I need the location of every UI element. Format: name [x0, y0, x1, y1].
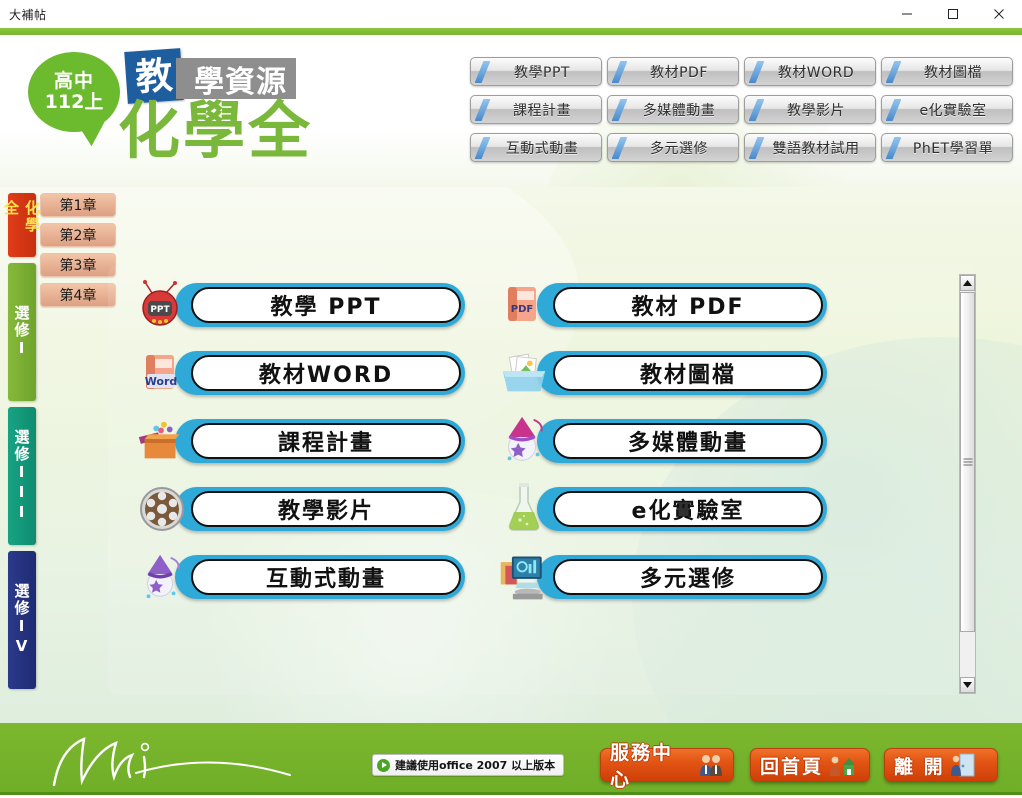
- nav-button-label: 教學影片: [775, 100, 845, 120]
- svg-text:PPT: PPT: [150, 305, 170, 315]
- slash-accent-icon: [612, 99, 627, 121]
- window-controls: [884, 0, 1022, 28]
- scrollbar-thumb[interactable]: [960, 292, 975, 632]
- home-label: 回首頁: [760, 752, 823, 779]
- menu-item-e-lab[interactable]: e化實驗室: [497, 483, 827, 535]
- menu-pill: e化實驗室: [537, 487, 827, 531]
- menu-pill: 教材 PDF: [537, 283, 827, 327]
- window-title: 大補帖: [0, 6, 47, 23]
- nav-button-label: 課程計畫: [501, 100, 571, 120]
- slash-accent-icon: [612, 61, 627, 83]
- svg-text:Word: Word: [145, 375, 178, 388]
- green-divider: [0, 28, 1022, 35]
- close-button[interactable]: [976, 0, 1022, 28]
- content-scrollbar[interactable]: [959, 274, 976, 694]
- main-body: 化學全 選修I 選修III 選修IV 第1章 第2章 第3章 第4章: [0, 187, 1022, 723]
- slash-accent-icon: [475, 137, 490, 159]
- office-version-note: 建議使用office 2007 以上版本: [372, 754, 564, 776]
- nav-button-course-plan[interactable]: 課程計畫: [470, 95, 602, 124]
- slash-accent-icon: [475, 61, 490, 83]
- menu-item-teaching-video[interactable]: 教學影片: [135, 483, 465, 535]
- door-icon: [950, 752, 976, 778]
- teaching-badge-char: 教: [134, 56, 173, 95]
- resource-menu-grid: PPT 教學 PPT PDF: [135, 279, 827, 603]
- chapter-button-1[interactable]: 第1章: [40, 193, 116, 217]
- nav-button-teaching-video[interactable]: 教學影片: [744, 95, 876, 124]
- monitor-chart-icon: [497, 550, 551, 604]
- menu-item-label: 教學影片: [278, 493, 374, 525]
- nav-button-label: e化實驗室: [907, 100, 986, 120]
- menu-item-interactive-animation[interactable]: 互動式動畫: [135, 551, 465, 603]
- scroll-up-arrow-icon[interactable]: [960, 275, 975, 291]
- word-book-icon: Word: [135, 346, 189, 400]
- nav-button-phet-worksheet[interactable]: PhET學習單: [881, 133, 1013, 162]
- gift-box-icon: [135, 414, 189, 468]
- resource-band: 學資源: [176, 58, 296, 99]
- menu-pill: 教材WORD: [175, 351, 465, 395]
- slash-accent-icon: [749, 99, 764, 121]
- slash-accent-icon: [612, 137, 627, 159]
- nav-button-material-images[interactable]: 教材圖檔: [881, 57, 1013, 86]
- menu-item-label: 多媒體動畫: [628, 425, 748, 457]
- chapter-button-4[interactable]: 第4章: [40, 283, 116, 307]
- slash-accent-icon: [749, 137, 764, 159]
- slash-accent-icon: [886, 99, 901, 121]
- service-center-label: 服務中心: [610, 738, 693, 792]
- nav-button-label: 多媒體動畫: [631, 100, 716, 120]
- slash-accent-icon: [886, 137, 901, 159]
- menu-pill: 多元選修: [537, 555, 827, 599]
- sidebar-item-elective-1[interactable]: 選修I: [8, 263, 36, 401]
- window-titlebar: 大補帖: [0, 0, 1022, 28]
- menu-item-label: 課程計畫: [278, 425, 374, 457]
- nav-button-label: 互動式動畫: [494, 138, 579, 158]
- nav-button-label: 教材PDF: [638, 62, 708, 82]
- svg-text:PDF: PDF: [511, 304, 533, 315]
- sidebar-item-chemistry-full[interactable]: 化學全: [8, 193, 36, 257]
- nav-button-teaching-ppt[interactable]: 教學PPT: [470, 57, 602, 86]
- nav-button-elective[interactable]: 多元選修: [607, 133, 739, 162]
- menu-item-label: 教材圖檔: [640, 357, 736, 389]
- slash-accent-icon: [886, 61, 901, 83]
- flask-icon: [497, 482, 551, 536]
- menu-item-label: 互動式動畫: [266, 561, 386, 593]
- footer-bottom-rule: [0, 792, 1022, 795]
- sidebar-tabs: 化學全 選修I 選修III 選修IV: [8, 193, 36, 695]
- menu-pill: 課程計畫: [175, 419, 465, 463]
- scroll-down-arrow-icon[interactable]: [960, 677, 975, 693]
- grade-bubble-line1: 高中: [54, 71, 94, 92]
- menu-item-label: e化實驗室: [632, 493, 745, 525]
- nav-button-material-pdf[interactable]: 教材PDF: [607, 57, 739, 86]
- nav-button-label: 教學PPT: [502, 62, 570, 82]
- office-version-note-label: 建議使用office 2007 以上版本: [395, 757, 555, 773]
- menu-item-course-plan[interactable]: 課程計畫: [135, 415, 465, 467]
- menu-item-material-word[interactable]: Word 教材WORD: [135, 347, 465, 399]
- brand-logo: 高中 112上 教 學資源 化學全: [22, 48, 322, 176]
- nav-button-label: 教材WORD: [766, 62, 854, 82]
- menu-item-elective[interactable]: 多元選修: [497, 551, 827, 603]
- nav-button-interactive-animation[interactable]: 互動式動畫: [470, 133, 602, 162]
- nani-brand-logo: [40, 729, 340, 791]
- menu-item-label: 教學 PPT: [271, 289, 382, 321]
- pdf-book-icon: PDF: [497, 278, 551, 332]
- header-nav-grid: 教學PPT 教材PDF 教材WORD 教材圖檔 課程計畫 多媒體動畫: [470, 57, 1013, 162]
- sidebar-item-elective-3[interactable]: 選修III: [8, 407, 36, 545]
- home-button[interactable]: 回首頁: [750, 748, 870, 782]
- menu-item-label: 多元選修: [640, 561, 736, 593]
- wizard-ball-icon: [497, 414, 551, 468]
- menu-pill: 教學影片: [175, 487, 465, 531]
- nav-button-label: PhET學習單: [901, 138, 993, 158]
- application-window: 大補帖 高中 112上 教 學資源: [0, 0, 1022, 798]
- minimize-button[interactable]: [884, 0, 930, 28]
- nav-button-e-lab[interactable]: e化實驗室: [881, 95, 1013, 124]
- play-circle-icon: [377, 759, 390, 772]
- menu-pill: 教學 PPT: [175, 283, 465, 327]
- sidebar-item-elective-4[interactable]: 選修IV: [8, 551, 36, 689]
- menu-pill: 教材圖檔: [537, 351, 827, 395]
- service-center-button[interactable]: 服務中心: [600, 748, 734, 782]
- chapter-list: 第1章 第2章 第3章 第4章: [40, 193, 116, 313]
- chapter-button-3[interactable]: 第3章: [40, 253, 116, 277]
- slash-accent-icon: [749, 61, 764, 83]
- nav-button-bilingual-trial[interactable]: 雙語教材試用: [744, 133, 876, 162]
- grade-bubble-line2: 112上: [45, 92, 104, 113]
- menu-pill: 互動式動畫: [175, 555, 465, 599]
- people-icon: [698, 752, 724, 778]
- exit-label: 離 開: [894, 752, 945, 779]
- nav-button-label: 教材圖檔: [912, 62, 982, 82]
- nav-button-material-word[interactable]: 教材WORD: [744, 57, 876, 86]
- menu-item-material-images[interactable]: 教材圖檔: [497, 347, 827, 399]
- ppt-tv-icon: PPT: [135, 278, 189, 332]
- grade-bubble: 高中 112上: [28, 52, 120, 132]
- menu-item-material-pdf[interactable]: PDF 教材 PDF: [497, 279, 827, 331]
- menu-item-multimedia-animation[interactable]: 多媒體動畫: [497, 415, 827, 467]
- menu-pill: 多媒體動畫: [537, 419, 827, 463]
- menu-item-label: 教材WORD: [259, 357, 393, 389]
- home-icon: [828, 752, 854, 778]
- maximize-button[interactable]: [930, 0, 976, 28]
- nav-button-label: 多元選修: [638, 138, 708, 158]
- film-reel-icon: [135, 482, 189, 536]
- menu-item-label: 教材 PDF: [631, 289, 744, 321]
- menu-item-teaching-ppt[interactable]: PPT 教學 PPT: [135, 279, 465, 331]
- chapter-button-2[interactable]: 第2章: [40, 223, 116, 247]
- wizard-hat-icon: [135, 550, 189, 604]
- page-title: 化學全: [118, 100, 313, 162]
- nav-button-label: 雙語教材試用: [761, 138, 860, 158]
- exit-button[interactable]: 離 開: [884, 748, 998, 782]
- slash-accent-icon: [475, 99, 490, 121]
- nav-button-multimedia-animation[interactable]: 多媒體動畫: [607, 95, 739, 124]
- image-folder-icon: [497, 346, 551, 400]
- scrollbar-grip-icon: [963, 459, 972, 466]
- page-header: 高中 112上 教 學資源 化學全 教學PPT 教材PDF 教材WORD: [0, 35, 1022, 187]
